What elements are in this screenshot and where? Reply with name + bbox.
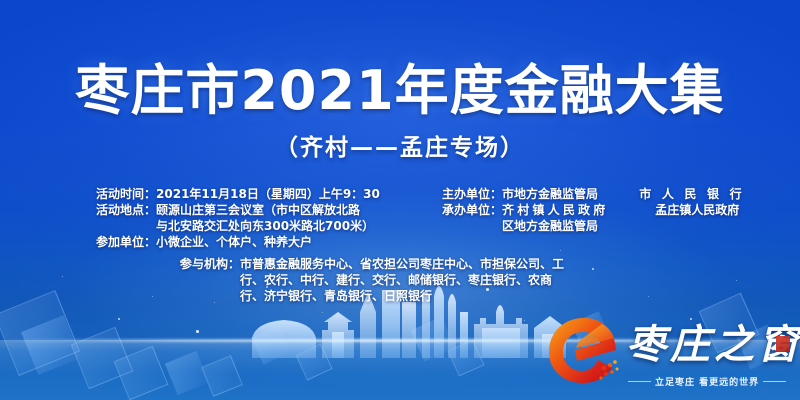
detail-value: 颐源山庄第三会议室（市中区解放北路 [156,202,416,218]
headline-block: 枣庄市2021年度金融大集 （齐村——孟庄专场） [0,62,800,162]
decor-square [411,317,456,362]
detail-label: 参加单位： [96,234,156,250]
event-details-right-column: 主办单位： 市地方金融监管局 市 人 民 银 行 承办单位： 齐村镇人民政府 孟… [442,186,772,250]
logo-wordmark: 枣庄之窗 [626,312,800,370]
detail-value: 小微企业、个体户、种养大户 [156,234,416,250]
detail-row-participants: 参加单位： 小微企业、个体户、种养大户 [96,234,416,250]
detail-label: 参与机构： [180,256,240,272]
detail-value: 市地方金融监管局 [502,186,625,202]
detail-row-organizers-cont: 区地方金融监管局 [442,218,772,234]
star-speck [524,320,525,321]
tagline-rule-left [628,381,651,382]
detail-value: 2021年11月18日（星期四）上午9：30 [156,186,416,202]
decor-square [71,327,133,389]
detail-value: 区地方金融监管局 [502,218,772,234]
participating-institutions: 参与机构： 市普惠金融服务中心、省农担公司枣庄中心、市担保公司、工行、农行、中行… [0,256,800,304]
detail-value: 齐村镇人民政府 [502,202,641,218]
detail-value: 与北安路交汇处向东300米路北700米） [156,218,416,234]
decor-square [295,343,332,380]
star-speck [196,330,199,333]
logo-tagline: 立足枣庄 看更远的世界 [655,375,759,388]
detail-label: 主办单位： [442,186,502,202]
detail-row-organizers: 承办单位： 齐村镇人民政府 孟庄镇人民政府 [442,202,772,218]
detail-value: 市普惠金融服务中心、省农担公司枣庄中心、市担保公司、工行、农行、中行、建行、交行… [240,256,570,304]
detail-value-secondary: 市 人 民 银 行 [639,186,772,202]
page-title: 枣庄市2021年度金融大集 [0,62,800,120]
decor-square [251,325,291,365]
decor-square [165,351,209,395]
event-details-left-column: 活动时间： 2021年11月18日（星期四）上午9：30 活动地点： 颐源山庄第… [96,186,416,250]
star-speck [322,312,323,313]
star-speck [118,318,120,320]
poster-banner: 枣庄市2021年度金融大集 （齐村——孟庄专场） 活动时间： 2021年11月1… [0,0,800,400]
zaozhuang-e-emblem-icon [546,314,622,386]
decor-square [448,340,485,377]
detail-row-time: 活动时间： 2021年11月18日（星期四）上午9：30 [96,186,416,202]
detail-label: 活动时间： [96,186,156,202]
decor-square [21,315,81,375]
decor-square [201,355,243,397]
detail-label: 承办单位： [442,202,502,218]
logo-tagline-row: 立足枣庄 看更远的世界 [628,375,786,388]
detail-row-location: 活动地点： 颐源山庄第三会议室（市中区解放北路 [96,202,416,218]
detail-value-secondary: 孟庄镇人民政府 [655,202,772,218]
event-details: 活动时间： 2021年11月18日（星期四）上午9：30 活动地点： 颐源山庄第… [0,186,800,304]
seal-stamp-icon [776,336,790,352]
detail-label: 活动地点： [96,202,156,218]
detail-row-hosts: 主办单位： 市地方金融监管局 市 人 民 银 行 [442,186,772,202]
site-logo[interactable]: 枣庄之窗 立足枣庄 看更远的世界 [542,310,792,394]
detail-row-location-cont: 与北安路交汇处向东300米路北700米） [96,218,416,234]
decor-square [114,346,169,400]
tagline-rule-right [763,381,786,382]
page-subtitle: （齐村——孟庄专场） [0,128,800,162]
